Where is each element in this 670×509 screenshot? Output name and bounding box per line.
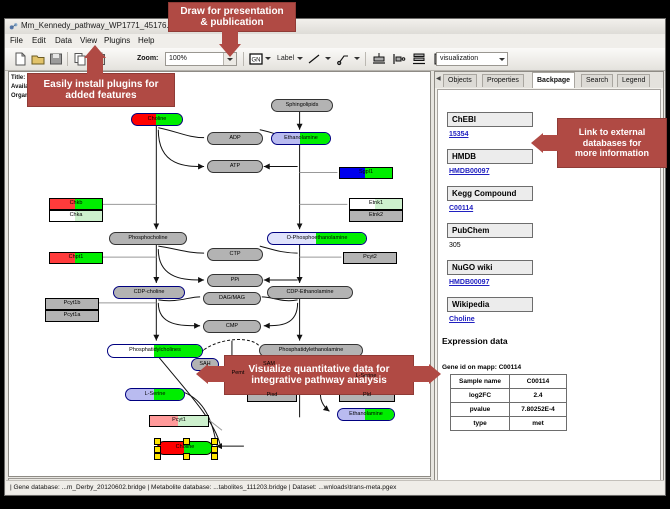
open-folder-icon[interactable] [31,52,45,66]
callout-draw-text: Draw for presentation& publication [180,6,283,29]
node-label: CDP-Ethanolamine [286,290,333,296]
gene-node-etnk1[interactable]: Etnk1 [349,198,403,210]
menu-data[interactable]: Data [55,36,72,45]
node-label: Pcyt1b [64,301,81,307]
expression-data-title: Expression data [442,336,508,346]
selection-handle[interactable] [154,453,161,460]
callout-links-arrow-icon [531,133,543,153]
callout-plugins: Easily install plugins foradded features [27,73,175,107]
row-value: 7.80252E-4 [510,403,567,417]
selection-handle[interactable] [154,446,161,453]
node-label: CDP-choline [134,290,165,296]
gene-id-on-mapp: Gene id on mapp: C00114 [442,364,521,371]
metabolite-node-cdp-choline[interactable]: CDP-choline [113,286,185,299]
callout-plugins-text: Easily install plugins foradded features [43,79,158,102]
row-key: type [451,417,510,431]
window-title: Mm_Kennedy_pathway_WP1771_45176.gpml [21,21,186,30]
svg-text:GN: GN [252,58,261,64]
node-label: SAM [263,362,275,368]
callout-visualize-arrow-right-icon [429,364,441,384]
metabolite-node-adp[interactable]: ADP [207,132,263,145]
status-bar-text: | Gene database: ...m_Derby_20120602.bri… [10,484,396,491]
pathvisio-app-icon [9,22,18,31]
pathway-canvas[interactable]: Title: Availa Organ [8,71,431,477]
tab-legend[interactable]: Legend [617,74,650,87]
label-tool-label[interactable]: Label [277,55,294,62]
node-label: Pcyt2 [363,255,377,261]
gene-node-pcyt1a[interactable]: Pcyt1a [45,310,99,322]
db-link-nugo[interactable]: HMDB00097 [449,279,489,286]
metabolite-node-cmp[interactable]: CMP [203,320,261,333]
expression-table: Sample name C00114 log2FC 2.4 pvalue 7.8… [450,374,567,431]
node-label: CTP [230,252,241,258]
menu-edit[interactable]: Edit [32,36,46,45]
db-header-pubchem: PubChem [447,223,533,238]
db-link-chebi[interactable]: 15354 [449,131,468,138]
node-label: Ethanolamine [284,136,318,142]
table-row: type met [451,417,567,431]
metabolite-node-ctp[interactable]: CTP [207,248,263,261]
node-label: Chkb [70,201,83,207]
metabolite-node-choline-top[interactable]: Choline [131,113,183,126]
interaction-caret-icon[interactable] [354,57,360,60]
node-label: Phosphatidylcholines [129,348,181,354]
node-label: Chka [70,213,83,219]
new-document-icon[interactable] [13,52,27,66]
metabolite-node-ppi[interactable]: PPi [207,274,263,287]
node-label: Etnk2 [369,213,383,219]
db-link-wikipedia[interactable]: Choline [449,316,475,323]
db-link-hmdb[interactable]: HMDB00097 [449,168,489,175]
selection-handle[interactable] [154,438,161,445]
db-value-pubchem: 305 [449,242,461,249]
menu-file[interactable]: File [10,36,23,45]
node-label: Ethanolamine [349,412,383,418]
metabolite-node-phosphocholine[interactable]: Phosphocholine [109,232,187,245]
selection-handle[interactable] [211,446,218,453]
metabolite-node-phosphatidylcholines[interactable]: Phosphatidylcholines [107,344,203,358]
tab-search[interactable]: Search [581,74,613,87]
callout-visualize-stem-left [208,366,226,382]
callout-links-text: Link to externaldatabases formore inform… [575,127,649,158]
label-caret-icon[interactable] [297,57,303,60]
gene-node-sgpl1[interactable]: Sgpl1 [339,167,393,179]
row-key: pvalue [451,403,510,417]
callout-draw-arrow-icon [219,44,241,57]
node-label: PPi [231,278,240,284]
toolbar-separator-3 [365,52,366,66]
node-label: L-Serine [145,392,166,398]
tab-properties[interactable]: Properties [482,74,524,87]
table-row: log2FC 2.4 [451,389,567,403]
node-label: ATP [230,164,240,170]
node-label: Pcyt1 [172,418,186,424]
align-top-icon[interactable] [372,52,386,66]
save-icon[interactable] [49,52,63,66]
metabolite-node-o-phosphoethanolamine[interactable]: O-Phosphoethanolamine [267,232,367,245]
callout-links-stem [543,135,559,151]
tab-objects[interactable]: Objects [443,74,477,87]
node-label: Phosphocholine [128,236,167,242]
metabolite-node-sphingolipids[interactable]: Sphingolipids [271,99,333,112]
metabolite-node-ethanolamine-bottom[interactable]: Ethanolamine [337,408,395,421]
metabolite-node-ethanolamine-top[interactable]: Ethanolamine [271,132,331,145]
window-title-bar: Mm_Kennedy_pathway_WP1771_45176.gpml [5,19,665,35]
node-label: CMP [226,324,238,330]
line-icon[interactable] [307,52,321,66]
row-value: met [510,417,567,431]
toolbar-separator-1 [67,52,68,66]
metabolite-node-atp[interactable]: ATP [207,160,263,173]
menu-view[interactable]: View [80,36,97,45]
metabolite-node-l-serine-left[interactable]: L-Serine [125,388,185,401]
node-label: Chpt1 [69,255,84,261]
visualization-combo[interactable]: visualization [436,52,508,66]
gene-node-chkb[interactable]: Chkb [49,198,103,210]
node-label: Sphingolipids [286,103,319,109]
callout-visualize: Visualize quantitative data forintegrati… [224,355,414,395]
data-node-icon[interactable]: GN [249,52,263,66]
db-header-hmdb: HMDB [447,149,533,164]
db-header-kegg: Kegg Compound [447,186,533,201]
node-label: ADP [229,136,240,142]
tabstrip-scroll-left-icon[interactable]: ◀ [436,75,441,82]
menu-help[interactable]: Help [138,36,154,45]
gene-node-pcyt2[interactable]: Pcyt2 [343,252,397,264]
zoom-label: Zoom: [137,55,158,62]
node-label: SAH [199,362,210,368]
node-label: DAG/MAG [219,296,245,302]
data-node-caret-icon[interactable] [265,57,271,60]
node-label: O-Phosphoethanolamine [287,236,348,242]
node-label: Choline [148,117,167,123]
node-label: Pld [363,393,371,399]
node-label: Phosphatidylethanolamine [279,348,344,354]
node-label: Choline [176,445,195,451]
callout-links: Link to externaldatabases formore inform… [557,118,667,168]
node-label: L-Serine [356,374,377,380]
screenshot-root: Mm_Kennedy_pathway_WP1771_45176.gpml Fil… [0,0,670,509]
node-label: Pcyt1a [64,313,81,319]
db-header-nugo: NuGO wiki [447,260,533,275]
node-label: Pisd [267,393,278,399]
zoom-value: 100% [169,55,187,62]
row-value: 2.4 [510,389,567,403]
gene-node-chpt1[interactable]: Chpt1 [49,252,103,264]
callout-plugins-arrow-icon [84,45,106,58]
node-label: Etnk1 [369,201,383,207]
selection-handle[interactable] [183,453,190,460]
side-panel-tabstrip: ◀ Objects Properties Backpage Search Leg… [435,72,663,88]
selection-handle[interactable] [211,438,218,445]
stack-vertical-icon[interactable] [412,52,426,66]
visualization-value: visualization [440,55,478,62]
node-label: Pemt [232,371,245,377]
row-key: Sample name [451,375,510,389]
callout-visualize-stem-right [412,366,430,382]
interaction-icon[interactable] [336,52,350,66]
db-header-chebi: ChEBI [447,112,533,127]
selection-handle[interactable] [211,453,218,460]
row-key: log2FC [451,389,510,403]
db-header-wikipedia: Wikipedia [447,297,533,312]
gene-node-pcyt1[interactable]: Pcyt1 [149,415,209,427]
db-link-kegg[interactable]: C00114 [449,205,473,212]
row-value: C00114 [510,375,567,389]
line-caret-icon[interactable] [325,57,331,60]
metabolite-node-dag-mag[interactable]: DAG/MAG [203,292,261,305]
callout-draw: Draw for presentation& publication [168,2,296,32]
align-left-icon[interactable] [392,52,406,66]
metabolite-node-cdp-ethanolamine[interactable]: CDP-Ethanolamine [267,286,353,299]
status-bar: | Gene database: ...m_Derby_20120602.bri… [6,480,664,494]
callout-plugins-stem [87,58,103,74]
table-row: Sample name C00114 [451,375,567,389]
gene-node-etnk2[interactable]: Etnk2 [349,210,403,222]
menu-plugins[interactable]: Plugins [104,36,130,45]
table-row: pvalue 7.80252E-4 [451,403,567,417]
gene-node-chka[interactable]: Chka [49,210,103,222]
gene-node-pcyt1b[interactable]: Pcyt1b [45,298,99,310]
tab-backpage[interactable]: Backpage [532,72,575,88]
toolbar-separator-2 [243,52,244,66]
node-label: Sgpl1 [359,170,373,176]
